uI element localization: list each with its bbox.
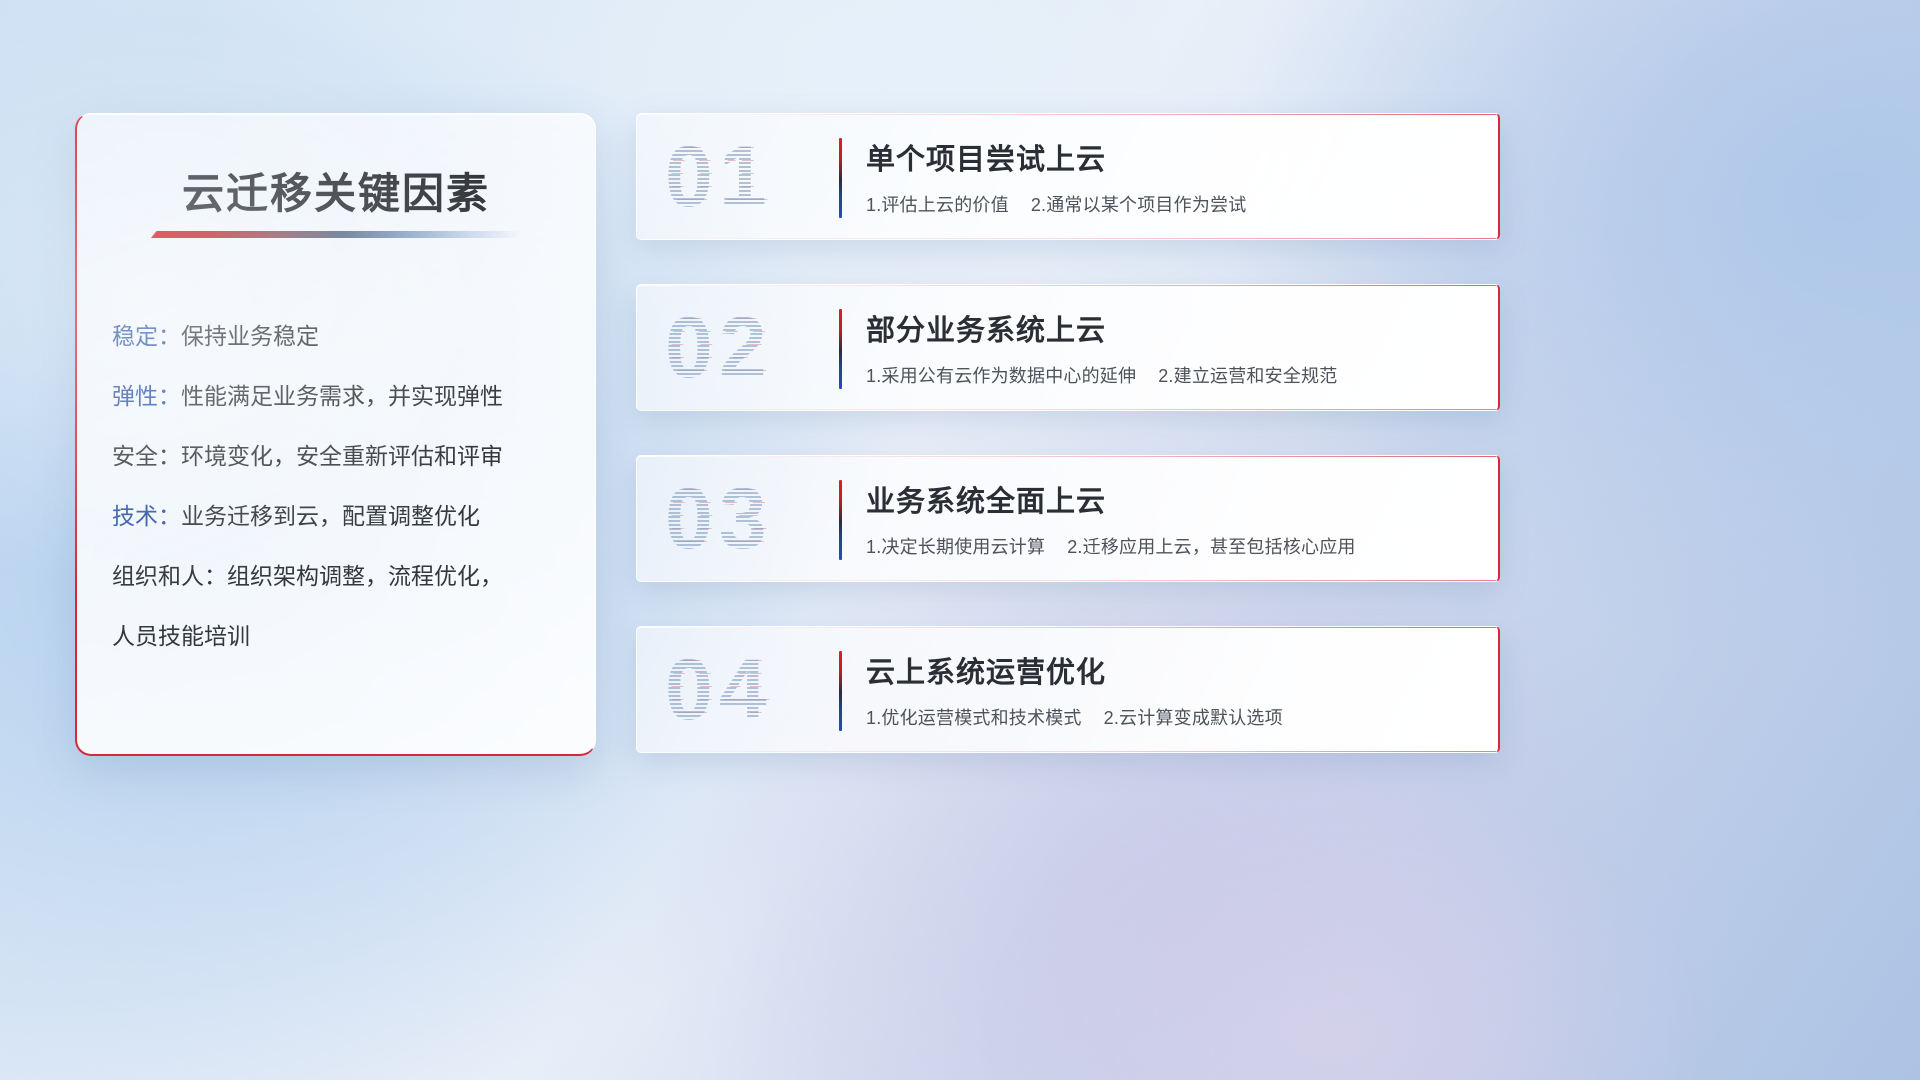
key-factors-panel: 云迁移关键因素 稳定：保持业务稳定 弹性：性能满足业务需求，并实现弹性 安全：环…	[75, 113, 596, 756]
title-underline-accent	[151, 231, 521, 238]
stage-card[interactable]: 03 03 业务系统全面上云 1.决定长期使用云计算2.迁移应用上云，甚至包括核…	[636, 455, 1500, 582]
stage-number-glitch-icon: 02	[668, 305, 776, 391]
stage-description-part-2: 2.云计算变成默认选项	[1104, 708, 1283, 728]
stage-title: 部分业务系统上云	[866, 311, 1472, 351]
stage-description-part-2: 2.建立运营和安全规范	[1158, 366, 1337, 386]
list-item: 人员技能培训	[112, 606, 571, 666]
factor-key: 安全：	[112, 443, 181, 469]
list-item: 技术：业务迁移到云，配置调整优化	[112, 486, 571, 546]
list-item: 弹性：性能满足业务需求，并实现弹性	[112, 366, 571, 426]
list-item: 稳定：保持业务稳定	[112, 306, 571, 366]
stage-card[interactable]: 02 02 部分业务系统上云 1.采用公有云作为数据中心的延伸2.建立运营和安全…	[636, 284, 1500, 411]
factor-key: 组织和人：	[112, 563, 227, 589]
stage-accent-bar	[839, 309, 842, 389]
stage-title: 云上系统运营优化	[866, 653, 1472, 693]
migration-stages-list: 01 01 单个项目尝试上云 1.评估上云的价值2.通常以某个项目作为尝试 02…	[636, 113, 1500, 797]
stage-number-glitch-icon: 04	[668, 647, 776, 733]
stage-number-glitch-icon: 03	[668, 476, 776, 562]
stage-card[interactable]: 01 01 单个项目尝试上云 1.评估上云的价值2.通常以某个项目作为尝试	[636, 113, 1500, 240]
factor-text: 保持业务稳定	[181, 323, 319, 349]
stage-number-watermark: 02	[665, 305, 773, 391]
stage-accent-bar	[839, 651, 842, 731]
stage-description-part-2: 2.迁移应用上云，甚至包括核心应用	[1067, 537, 1355, 557]
stage-title: 单个项目尝试上云	[866, 140, 1472, 180]
stage-number-watermark: 04	[665, 647, 773, 733]
stage-description-part-2: 2.通常以某个项目作为尝试	[1031, 195, 1247, 215]
factor-text: 人员技能培训	[112, 623, 250, 649]
stage-number-glitch-icon: 01	[668, 134, 776, 220]
factor-text: 业务迁移到云，配置调整优化	[181, 503, 480, 529]
stage-description: 1.优化运营模式和技术模式2.云计算变成默认选项	[866, 704, 1472, 730]
stage-description-part-1: 1.采用公有云作为数据中心的延伸	[866, 366, 1136, 386]
slide-canvas: 云迁移关键因素 稳定：保持业务稳定 弹性：性能满足业务需求，并实现弹性 安全：环…	[0, 0, 1920, 1080]
list-item: 组织和人：组织架构调整，流程优化，	[112, 546, 571, 606]
stage-description-part-1: 1.决定长期使用云计算	[866, 537, 1045, 557]
stage-body: 云上系统运营优化 1.优化运营模式和技术模式2.云计算变成默认选项	[866, 653, 1472, 730]
stage-description-part-1: 1.优化运营模式和技术模式	[866, 708, 1082, 728]
factors-list: 稳定：保持业务稳定 弹性：性能满足业务需求，并实现弹性 安全：环境变化，安全重新…	[112, 306, 571, 666]
stage-number-watermark: 01	[665, 134, 773, 220]
stage-body: 业务系统全面上云 1.决定长期使用云计算2.迁移应用上云，甚至包括核心应用	[866, 482, 1472, 559]
stage-card[interactable]: 04 04 云上系统运营优化 1.优化运营模式和技术模式2.云计算变成默认选项	[636, 626, 1500, 753]
stage-body: 单个项目尝试上云 1.评估上云的价值2.通常以某个项目作为尝试	[866, 140, 1472, 217]
stage-description-part-1: 1.评估上云的价值	[866, 195, 1009, 215]
stage-accent-bar	[839, 138, 842, 218]
factor-key: 技术：	[112, 503, 181, 529]
stage-body: 部分业务系统上云 1.采用公有云作为数据中心的延伸2.建立运营和安全规范	[866, 311, 1472, 388]
factor-text: 性能满足业务需求，并实现弹性	[181, 383, 503, 409]
stage-description: 1.评估上云的价值2.通常以某个项目作为尝试	[866, 191, 1472, 217]
stage-accent-bar	[839, 480, 842, 560]
factor-key: 稳定：	[112, 323, 181, 349]
stage-description: 1.决定长期使用云计算2.迁移应用上云，甚至包括核心应用	[866, 533, 1472, 559]
page-title: 云迁移关键因素	[182, 160, 490, 221]
factor-text: 环境变化，安全重新评估和评审	[181, 443, 503, 469]
stage-number-watermark: 03	[665, 476, 773, 562]
stage-title: 业务系统全面上云	[866, 482, 1472, 522]
list-item: 安全：环境变化，安全重新评估和评审	[112, 426, 571, 486]
stage-description: 1.采用公有云作为数据中心的延伸2.建立运营和安全规范	[866, 362, 1472, 388]
factor-text: 组织架构调整，流程优化，	[227, 563, 503, 589]
factor-key: 弹性：	[112, 383, 181, 409]
